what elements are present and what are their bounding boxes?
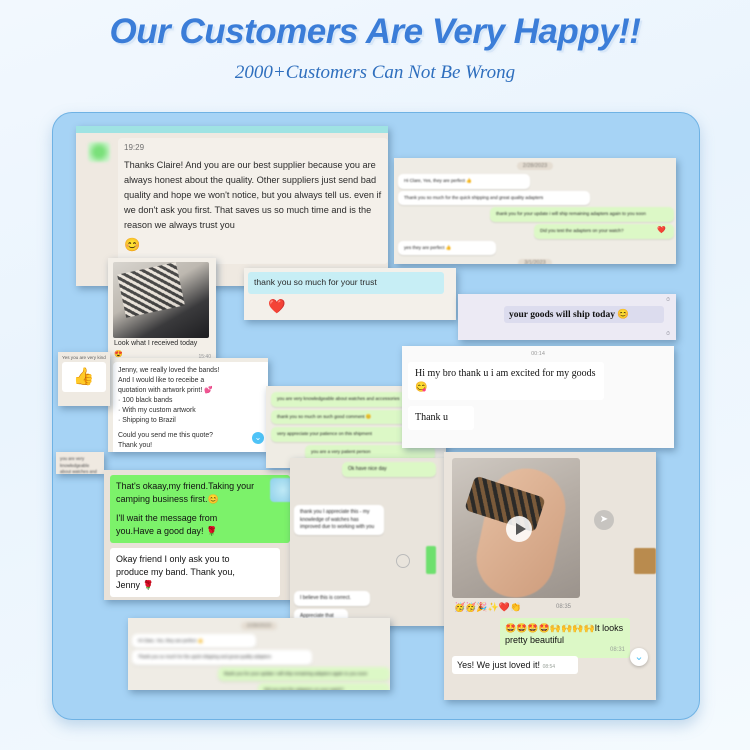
message-bubble-outgoing: Did you test the adapters on your watch? — [258, 683, 390, 690]
message-bubble-incoming: 19:29 Thanks Claire! And you are our bes… — [118, 138, 388, 264]
status-meta-bottom: ⏱ — [666, 331, 670, 337]
date-divider: 3/1/2023 — [518, 259, 551, 264]
white-line: produce my band. Thank you, — [116, 566, 274, 579]
message-bubble-incoming: thank you I appreciate this - my knowled… — [294, 505, 384, 535]
chat-header-bar — [76, 126, 388, 133]
photo-caption: Look what I received today — [114, 340, 197, 347]
quoted-message-label: Yes you are very kind — [58, 352, 110, 360]
chat-screenshot-photo[interactable]: Look what I received today 😍 15:40 — [108, 258, 216, 362]
chevron-down-icon[interactable]: ⌄ — [252, 432, 264, 444]
quote-line: Could you send me this quote? — [118, 431, 266, 441]
profile-circle-icon — [396, 554, 410, 568]
chat-screenshot-appreciation[interactable]: Ok have nice day thank you I appreciate … — [290, 458, 452, 626]
message-bubble-incoming: I believe this is correct. — [294, 591, 370, 606]
chat-screenshot-trust[interactable]: thank you so much for your trust ❤️ — [244, 268, 456, 320]
chat-screenshot-watch-video[interactable]: ➤ 🥳🥳🎉✨❤️👏 08:35 🤩🤩🤩🤩🙌🙌🙌🙌It looks pretty … — [444, 452, 656, 700]
message-time: 08:54 — [543, 664, 556, 670]
message-bubble-outgoing: Did you test the adapters on your watch? — [534, 224, 674, 239]
message-bubble-outgoing: thank you for your update i will ship re… — [490, 207, 674, 222]
message-time: 00:14 — [402, 346, 674, 357]
watch-video-thumbnail[interactable] — [452, 458, 580, 598]
quote-line: And I would like to receibe a — [118, 376, 266, 386]
voice-message-waveform — [426, 546, 436, 574]
forward-icon[interactable]: ➤ — [594, 510, 614, 530]
received-bands-photo — [113, 262, 209, 338]
green-line: That's okaay,my friend.Taking your — [116, 480, 284, 493]
message-bubble-outgoing: your goods will ship today 😊 — [504, 306, 664, 323]
message-bubble-incoming: Hi Clare, Yes, they are perfect 👍 — [132, 634, 256, 648]
chat-screenshot-quote-request[interactable]: Jenny, we really loved the bands! And I … — [108, 358, 268, 452]
page-subtitle: 2000+Customers Can Not Be Wrong — [0, 62, 750, 84]
message-bubble-incoming: yes they are perfect 👍 — [398, 241, 496, 256]
incoming-text: Yes! We just loved it! — [457, 660, 540, 670]
message-time: 08:35 — [556, 604, 571, 610]
smile-icon: 😊 — [124, 234, 382, 255]
message-bubble-outgoing: 🤩🤩🤩🤩🙌🙌🙌🙌It looks pretty beautiful 08:31 — [500, 618, 630, 658]
message-bubble-outgoing: thank you for your update i will ship re… — [218, 667, 390, 681]
chat-screenshot-camping[interactable]: That's okaay,my friend.Taking your campi… — [104, 470, 300, 600]
chat-screenshot-ship-today[interactable]: ⏱ your goods will ship today 😊 ⏱ — [458, 294, 676, 340]
message-bubble-incoming: Thank u — [408, 406, 474, 430]
message-bubble-incoming: Hi Clare, Yes, they are perfect 👍 — [398, 174, 530, 189]
heart-reaction-icon: ❤️ — [268, 298, 285, 315]
reaction-emoji: 😍 — [114, 350, 123, 358]
message-time: 20:58 — [118, 451, 266, 452]
quote-line: quotation with artwork print! 💕 — [118, 386, 266, 396]
heart-reaction-icon: ❤️ — [657, 226, 666, 234]
message-bubble-incoming: Thank you so much for the quick shipping… — [132, 650, 312, 664]
message-bubble-outgoing: Ok have nice day — [342, 462, 436, 477]
message-bubble-incoming: Okay friend I only ask you to produce my… — [110, 548, 280, 597]
quote-line: Jenny, we really loved the bands! — [118, 366, 266, 376]
message-bubble-incoming: Thank you so much for the quick shipping… — [398, 191, 590, 206]
play-icon[interactable] — [506, 516, 532, 542]
message-time: 08:31 — [505, 646, 625, 654]
message-bubble-incoming: Hi my bro thank u i am excited for my go… — [408, 362, 604, 400]
thumbs-up-sticker-icon: 👍 — [62, 362, 106, 392]
chat-screenshot-thumbs-up[interactable]: Yes you are very kind 👍 — [58, 352, 110, 406]
page-header: Our Customers Are Very Happy!! 2000+Cust… — [0, 0, 750, 84]
chat-screenshot-edge-fragment[interactable]: you are very knowledgeable about watches… — [56, 452, 104, 474]
white-line: Jenny 🌹 — [116, 579, 274, 592]
avatar — [88, 142, 110, 162]
chat-screenshot-adapters[interactable]: 2/28/2023 Hi Clare, Yes, they are perfec… — [394, 158, 676, 264]
chat-screenshot-adapters-duplicate[interactable]: 2/28/2023 Hi Clare, Yes, they are perfec… — [128, 618, 390, 690]
green-line: you.Have a good day! 🌹 — [116, 525, 284, 538]
message-bubble-incoming: Jenny, we really loved the bands! And I … — [113, 362, 268, 452]
status-meta-top: ⏱ — [666, 297, 670, 303]
message-bubble-incoming: Yes! We just loved it! 08:54 — [452, 656, 578, 674]
message-bubble-outgoing: That's okaay,my friend.Taking your campi… — [110, 475, 290, 543]
chevron-down-icon[interactable]: ⌄ — [630, 648, 648, 666]
fragment-text: you are very knowledgeable about watches… — [56, 452, 104, 474]
green-line: camping business first.😊 — [116, 493, 284, 506]
page-title: Our Customers Are Very Happy!! — [0, 12, 750, 52]
quote-line: · 100 black bands — [118, 396, 266, 406]
quote-line: · Shipping to Brazil — [118, 416, 266, 426]
date-divider: 2/28/2023 — [517, 162, 553, 170]
white-line: Okay friend I only ask you to — [116, 553, 274, 566]
quote-line: · With my custom artwork — [118, 406, 266, 416]
thumbnail-preview — [634, 548, 656, 574]
message-text: Thanks Claire! And you are our best supp… — [124, 160, 381, 230]
quote-line: Thank you! — [118, 441, 266, 451]
message-time: 19:29 — [124, 142, 382, 155]
reaction-emoji: 🥳🥳🎉✨❤️👏 — [454, 602, 521, 613]
message-bubble-outgoing: thank you so much for your trust — [248, 272, 444, 294]
date-divider: 2/28/2023 — [241, 622, 277, 630]
outgoing-text: 🤩🤩🤩🤩🙌🙌🙌🙌It looks pretty beautiful — [505, 623, 623, 645]
green-line: I'll wait the message from — [116, 512, 284, 525]
chat-screenshot-excited-customer[interactable]: 00:14 Hi my bro thank u i am excited for… — [402, 346, 674, 448]
